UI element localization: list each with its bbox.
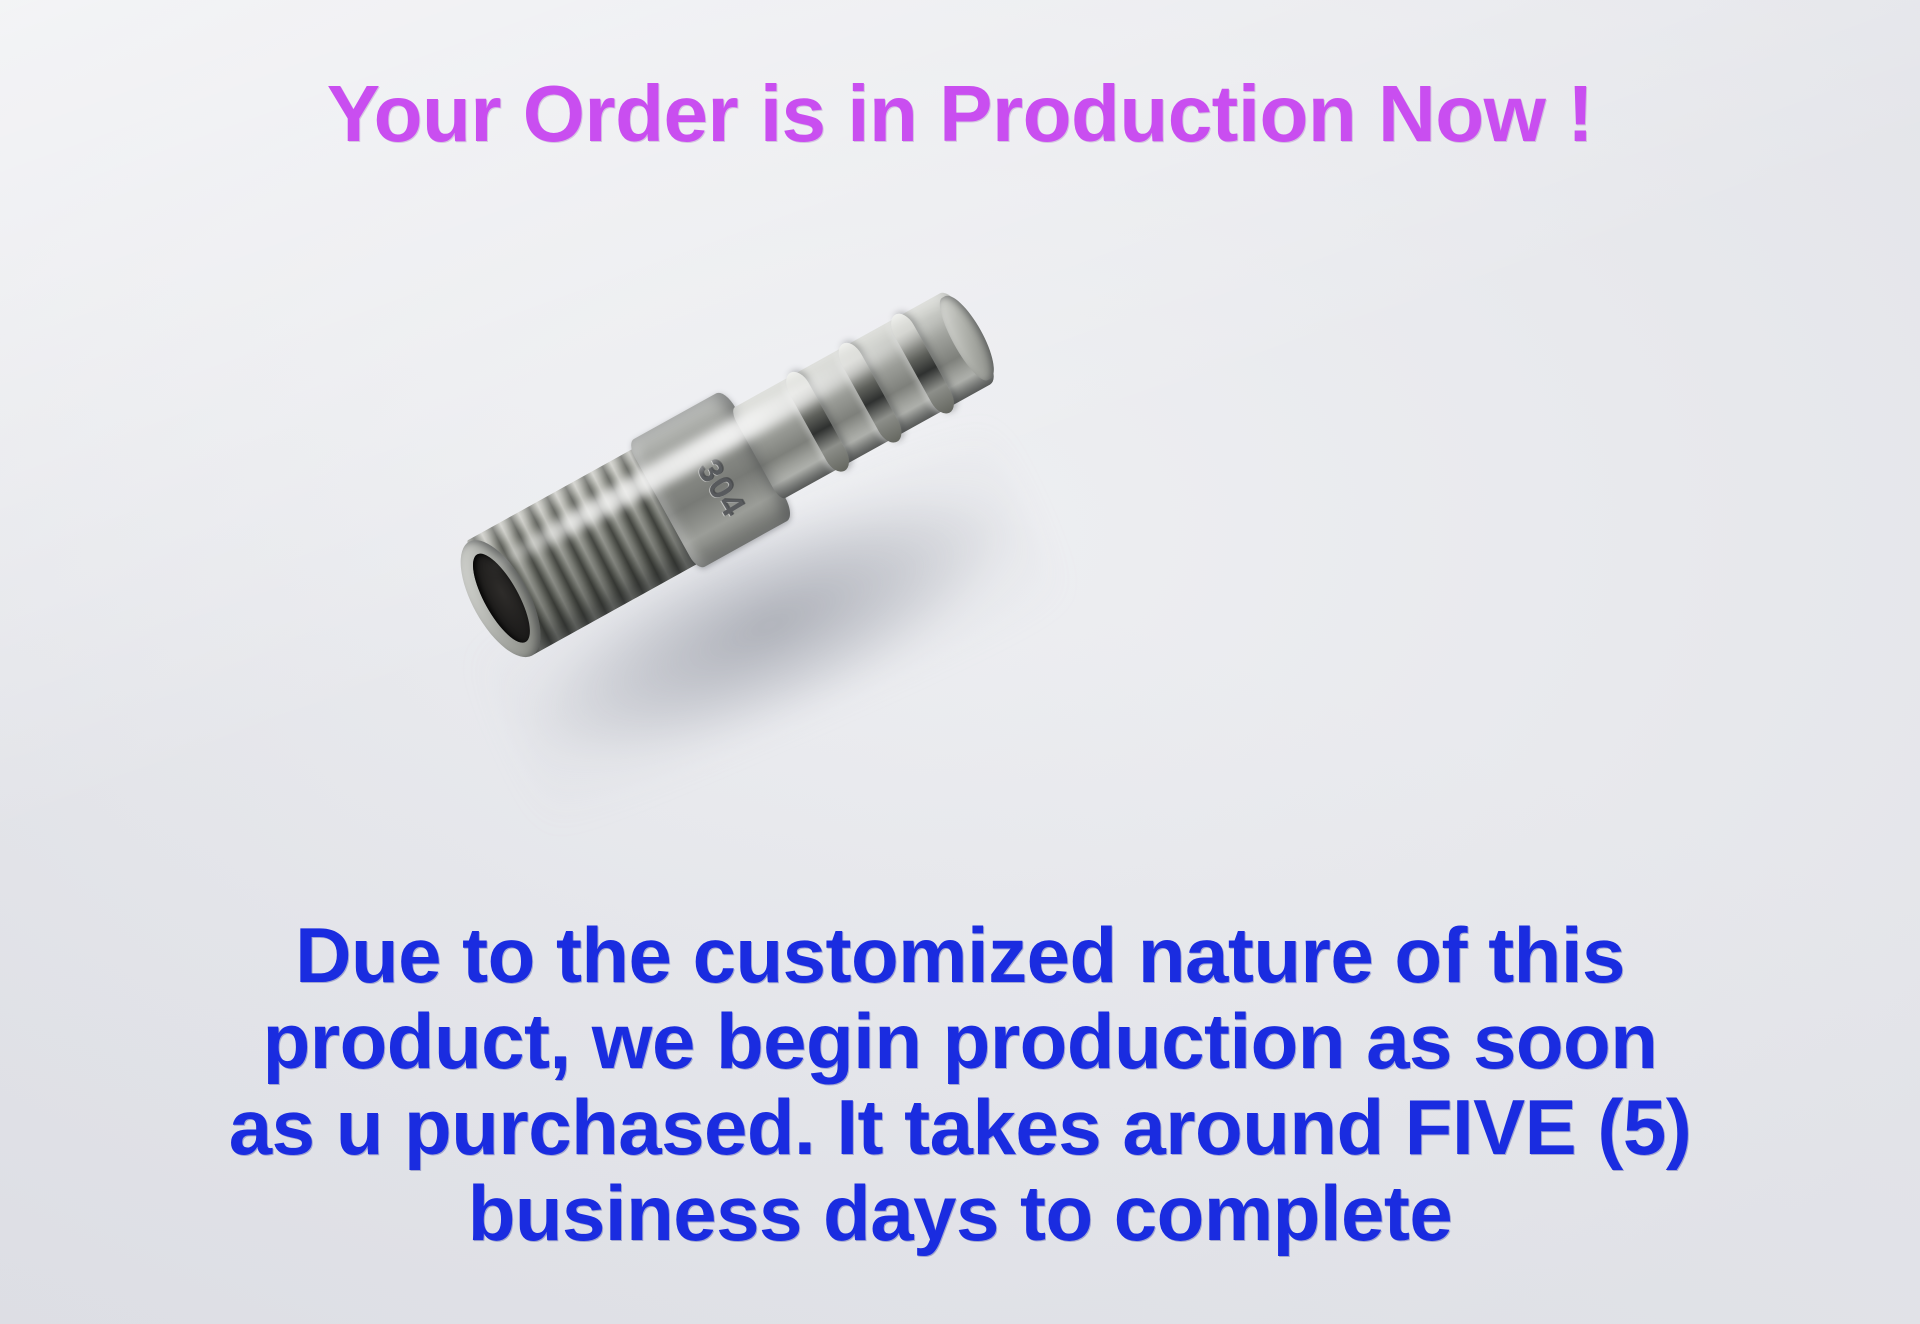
body-line-1: Due to the customized nature of this xyxy=(0,912,1920,998)
body-message: Due to the customized nature of this pro… xyxy=(0,912,1920,1256)
product-image: 304 xyxy=(430,280,1190,750)
body-line-3: as u purchased. It takes around FIVE (5) xyxy=(0,1084,1920,1170)
body-line-2: product, we begin production as soon xyxy=(0,998,1920,1084)
promo-banner: Your Order is in Production Now ! 304 Du… xyxy=(0,0,1920,1324)
body-line-4: business days to complete xyxy=(0,1170,1920,1256)
